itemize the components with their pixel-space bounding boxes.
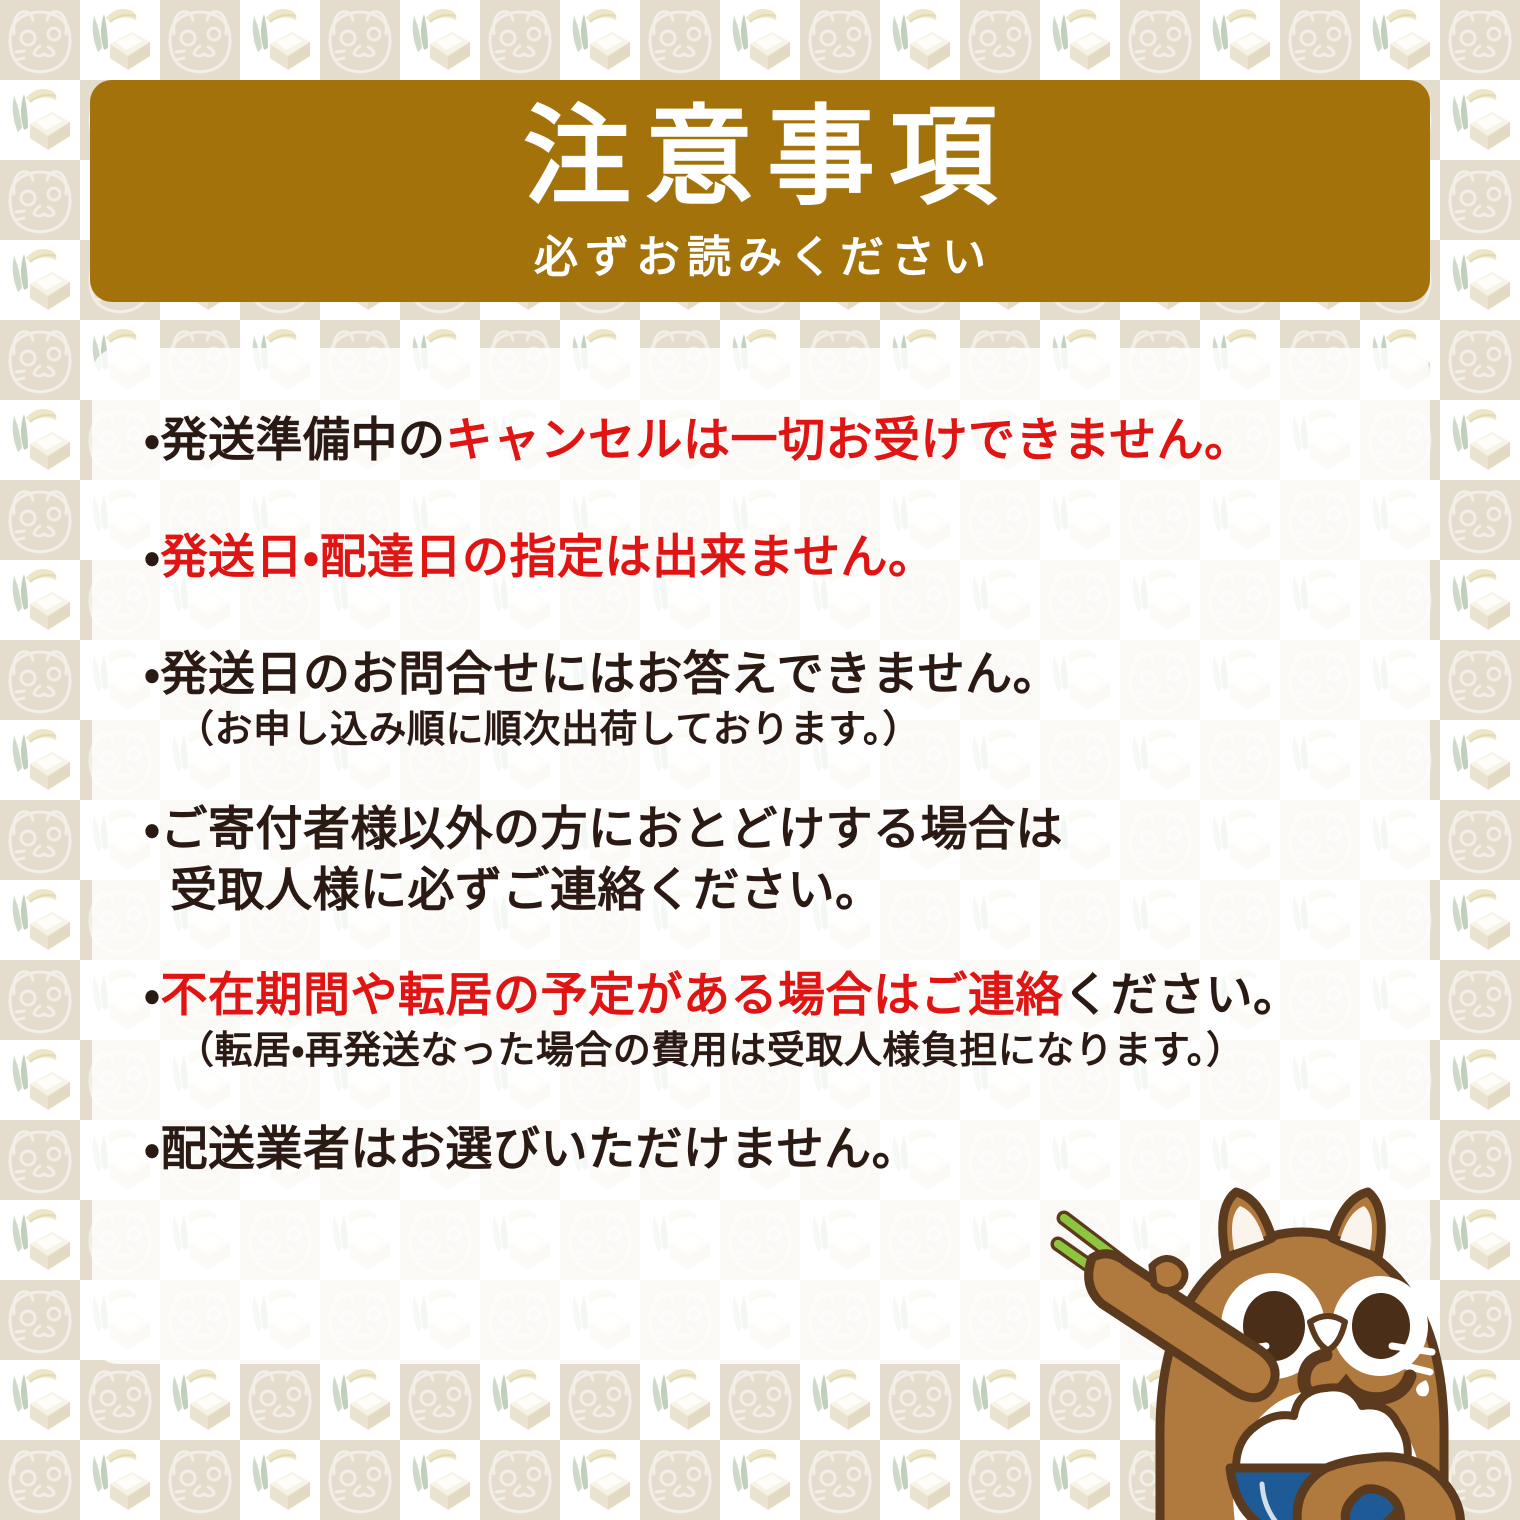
bg-tile [160, 0, 240, 80]
bg-tile [1440, 880, 1520, 960]
bg-tile [560, 1440, 640, 1520]
bg-tile [1440, 160, 1520, 240]
bg-tile [1200, 0, 1280, 80]
bg-tile [0, 1040, 80, 1120]
bg-tile [480, 1360, 560, 1440]
bullet: ・ [144, 647, 160, 702]
bg-tile [720, 1440, 800, 1520]
bg-tile [160, 1360, 240, 1440]
bg-tile [960, 1360, 1040, 1440]
bg-tile [0, 800, 80, 880]
bg-tile [1440, 720, 1520, 800]
bg-tile [1440, 800, 1520, 880]
bear-mascot [1040, 1140, 1520, 1520]
page-subtitle: 必ずお読みください [527, 221, 993, 285]
spacer [144, 755, 1378, 799]
bg-tile [960, 1440, 1040, 1520]
page-title: 注意事項 [509, 103, 1011, 213]
bg-tile [0, 640, 80, 720]
bg-tile [640, 0, 720, 80]
bullet: ・ [144, 968, 160, 1023]
bg-tile [560, 1360, 640, 1440]
notice-text: 配送業者はお選びいただけません。 [160, 1122, 919, 1177]
bg-tile [0, 560, 80, 640]
notice-subtext: （転居・再発送なった場合の費用は受取人様負担になります。） [144, 1026, 1378, 1075]
bullet: ・ [144, 530, 160, 585]
bg-tile [1440, 320, 1520, 400]
bg-tile [0, 240, 80, 320]
bg-tile [1120, 0, 1200, 80]
bg-tile [560, 0, 640, 80]
bg-tile [0, 720, 80, 800]
bg-tile [960, 0, 1040, 80]
notice-text-highlight: キャンセルは一切お受けできません。 [445, 413, 1251, 468]
bg-tile [240, 1360, 320, 1440]
bg-tile [800, 0, 880, 80]
notice-item: ・発送日・配達日の指定は出来ません。 [144, 527, 1378, 588]
bg-tile [0, 960, 80, 1040]
bg-tile [320, 0, 400, 80]
bg-tile [400, 1440, 480, 1520]
bg-tile [1040, 0, 1120, 80]
notice-text: 発送準備中の [160, 413, 445, 468]
bg-tile [160, 1440, 240, 1520]
notice-text-highlight: 発送日・配達日の指定は出来ません。 [160, 530, 935, 585]
spacer [144, 471, 1378, 527]
bg-tile [720, 0, 800, 80]
bg-tile [640, 1360, 720, 1440]
bg-tile [1440, 640, 1520, 720]
notice-item: ・発送日のお問合せにはお答えできません。 [144, 644, 1378, 705]
mascot-paw-left [1152, 1258, 1185, 1290]
bg-tile [880, 1360, 960, 1440]
bg-tile [0, 1360, 80, 1440]
bg-tile [0, 1200, 80, 1280]
bg-tile [1280, 0, 1360, 80]
notice-item: ・不在期間や転居の予定がある場合はご連絡ください。 [144, 965, 1378, 1026]
bg-tile [80, 1360, 160, 1440]
bg-tile [1440, 400, 1520, 480]
bg-tile [400, 1360, 480, 1440]
bg-tile [0, 0, 80, 80]
bg-tile [240, 1440, 320, 1520]
notice-continuation: 受取人様に必ずご連絡ください。 [144, 860, 1378, 921]
bg-tile [80, 0, 160, 80]
bg-tile [0, 480, 80, 560]
spacer [144, 1075, 1378, 1119]
bg-tile [320, 1360, 400, 1440]
bg-tile [640, 1440, 720, 1520]
bg-tile [0, 80, 80, 160]
bg-tile [0, 880, 80, 960]
notice-subtext: （お申し込み順に順次出荷しております。） [144, 705, 1378, 754]
bg-tile [480, 1440, 560, 1520]
bg-tile [80, 1440, 160, 1520]
bg-tile [1440, 960, 1520, 1040]
spacer [144, 921, 1378, 965]
bg-tile [0, 1120, 80, 1200]
bg-tile [1440, 80, 1520, 160]
bg-tile [1360, 0, 1440, 80]
notice-text-highlight: 不在期間や転居の予定がある場合はご連絡 [160, 968, 1063, 1023]
bg-tile [1440, 0, 1520, 80]
bg-tile [0, 400, 80, 480]
bg-tile [400, 0, 480, 80]
bg-tile [880, 1440, 960, 1520]
bg-tile [480, 0, 560, 80]
notice-text: ご寄付者様以外の方におとどけする場合は [160, 802, 1063, 857]
notice-graphic: 注意事項 必ずお読みください ・発送準備中のキャンセルは一切お受けできません。 … [0, 0, 1520, 1520]
bg-tile [240, 0, 320, 80]
bg-tile [1440, 480, 1520, 560]
bg-tile [320, 1440, 400, 1520]
bg-tile [1440, 240, 1520, 320]
bullet: ・ [144, 413, 160, 468]
bg-tile [1440, 1040, 1520, 1120]
bullet: ・ [144, 1122, 160, 1177]
bg-tile [0, 1440, 80, 1520]
bg-tile [0, 320, 80, 400]
bg-tile [800, 1440, 880, 1520]
bg-tile [880, 0, 960, 80]
notice-text: ください。 [1063, 968, 1301, 1023]
notice-text: 発送日のお問合せにはお答えできません。 [160, 647, 1060, 702]
bg-tile [800, 1360, 880, 1440]
header-banner: 注意事項 必ずお読みください [90, 80, 1430, 302]
bg-tile [1440, 560, 1520, 640]
notice-item: ・発送準備中のキャンセルは一切お受けできません。 [144, 410, 1378, 471]
notice-item: ・ご寄付者様以外の方におとどけする場合は [144, 799, 1378, 860]
bg-tile [0, 1280, 80, 1360]
bg-tile [0, 160, 80, 240]
bullet: ・ [144, 802, 160, 857]
spacer [144, 588, 1378, 644]
bg-tile [720, 1360, 800, 1440]
